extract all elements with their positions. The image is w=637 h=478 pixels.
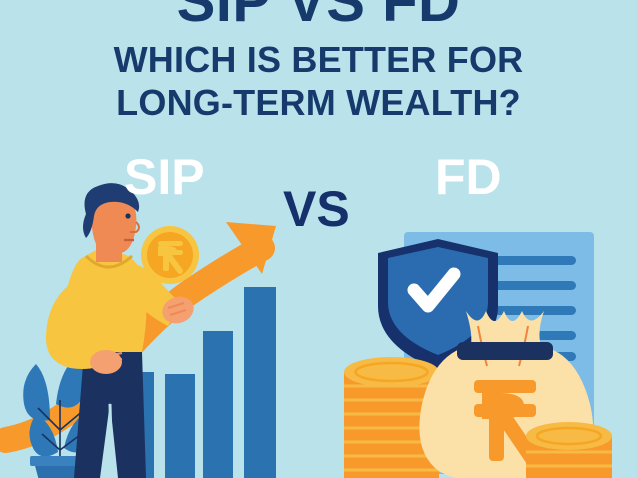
coin-stack-right <box>526 422 612 478</box>
label-sip: SIP <box>124 152 205 202</box>
fd-security-scene <box>344 232 612 478</box>
label-vs: VS <box>283 184 350 234</box>
poster-canvas: SIP VS FD WHICH IS BETTER FOR LONG-TERM … <box>0 0 637 478</box>
illustration-layer <box>0 0 637 478</box>
rupee-coin <box>141 226 199 284</box>
sip-growth-scene <box>6 183 276 478</box>
bar-3 <box>203 331 233 478</box>
label-fd: FD <box>435 152 502 202</box>
bar-4 <box>244 287 276 478</box>
